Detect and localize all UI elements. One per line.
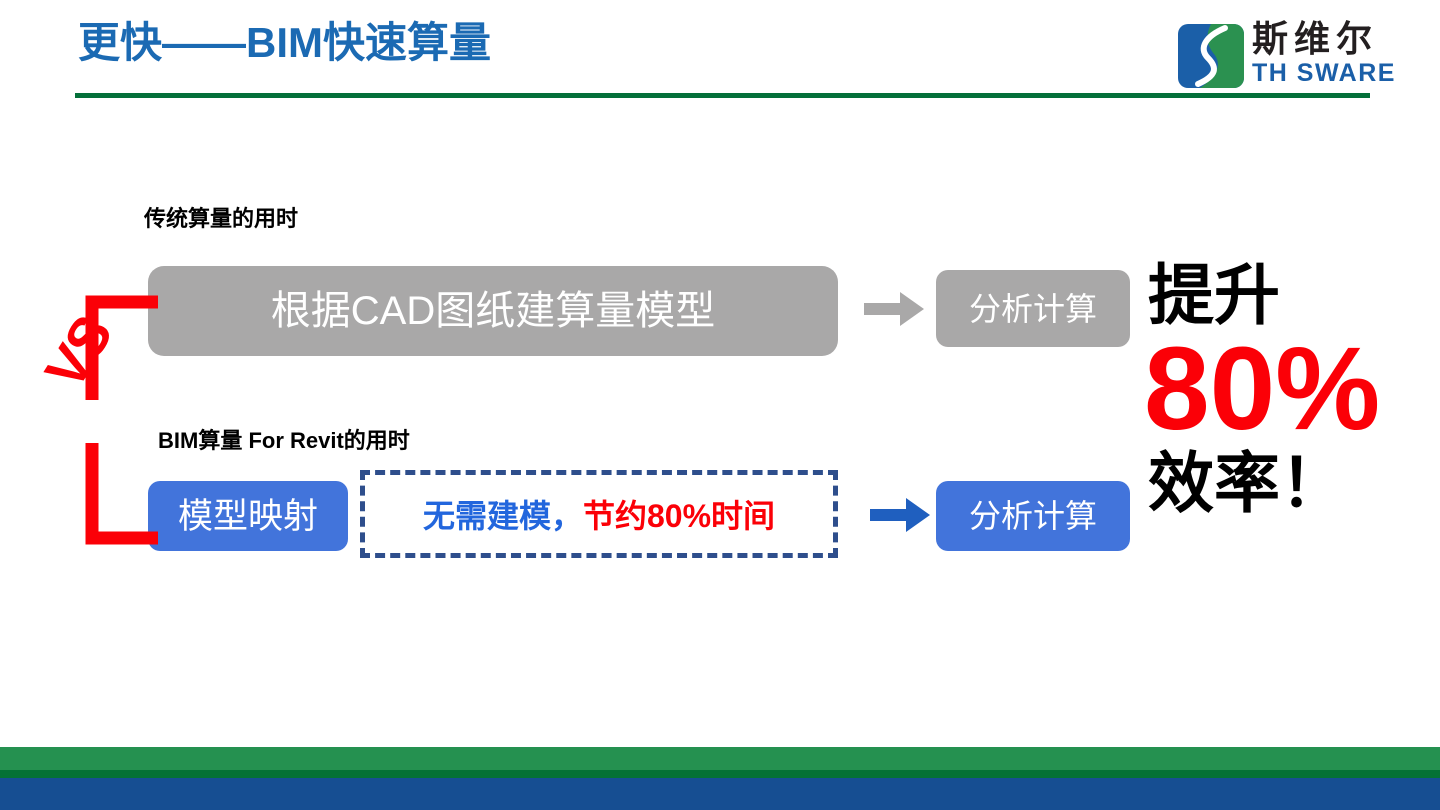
stat-callout: 提升 80% 效率！ [1148,262,1440,516]
traditional-step-cad-model: 根据CAD图纸建算量模型 [148,266,838,356]
page-title: 更快——BIM快速算量 [78,22,491,64]
footer-band-green [0,747,1440,770]
bim-step-analysis: 分析计算 [936,481,1130,551]
stat-lead-text: 提升 [1148,262,1440,328]
logo-name-cn: 斯维尔 [1252,20,1378,58]
traditional-step-analysis: 分析计算 [936,270,1130,347]
footer-band-green-dark [0,770,1440,778]
brand-logo: 斯维尔 TH SWARE [1178,22,1374,92]
footer-band-blue [0,778,1440,810]
right-arrow-icon-traditional [864,292,924,326]
title-divider [75,93,1370,98]
bim-savings-callout: 无需建模，节约80%时间 [360,470,838,558]
bim-step-model-mapping: 模型映射 [148,481,348,551]
logo-mark-icon [1178,24,1244,88]
stat-value-text: 80% [1144,330,1440,448]
bim-row-label: BIM算量 For Revit的用时 [158,430,410,452]
slide-canvas: 更快——BIM快速算量 斯维尔 TH SWARE 传统算量的用时 根据CAD图纸… [0,0,1440,810]
callout-highlight-text: 节约80%时间 [583,491,775,537]
callout-primary-text: 无需建模， [423,491,583,537]
traditional-row-label: 传统算量的用时 [144,208,298,230]
stat-trail-text: 效率！ [1148,450,1440,516]
logo-name-en: TH SWARE [1252,60,1396,86]
right-arrow-icon-bim [870,498,930,532]
